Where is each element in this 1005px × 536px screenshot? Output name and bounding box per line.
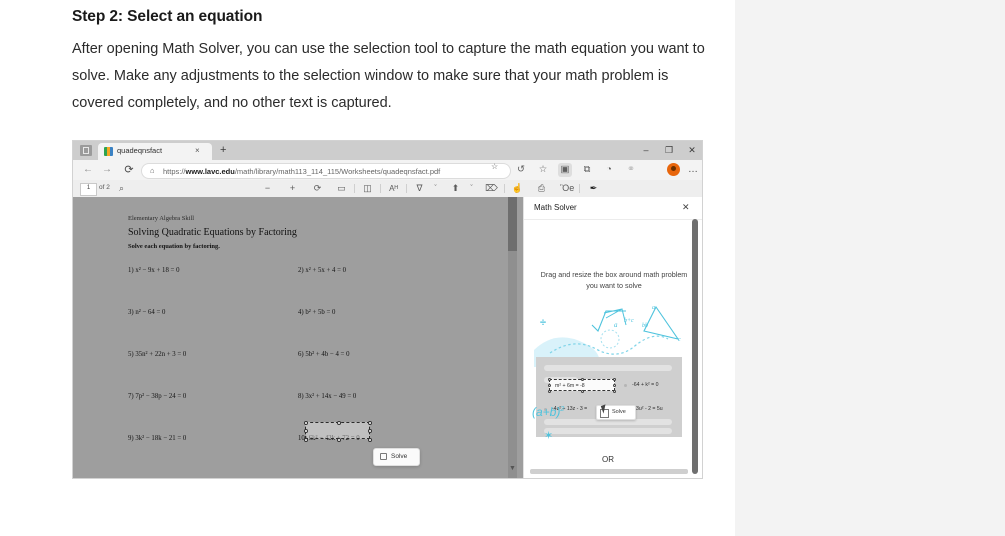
browser-essentials-icon[interactable]: ◔: [602, 164, 616, 176]
page-title: Step 2: Select an equation: [72, 8, 712, 26]
mini-text-bar: [544, 428, 672, 434]
browser-address-bar: ← → ⟳ ⌂ https://www.lavc.edu/math/librar…: [73, 160, 702, 180]
illustration-solve-label: Solve: [612, 409, 626, 415]
save-icon[interactable]: Ὃe: [560, 183, 573, 194]
svg-text:c: c: [678, 337, 681, 343]
svg-text:a: a: [652, 305, 655, 311]
forward-icon[interactable]: →: [101, 164, 113, 176]
avatar[interactable]: [667, 163, 680, 176]
window-maximize-button[interactable]: ❐: [662, 144, 676, 156]
screenshot-page: Step 2: Select an equation After opening…: [0, 0, 1005, 536]
equation-item: 8) 3x² + 14x − 49 = 0: [298, 393, 356, 400]
selection-handle[interactable]: [304, 421, 308, 425]
equation-item: 5) 35n² + 22n + 3 = 0: [128, 351, 186, 358]
equation-item: 4) b² + 5b = 0: [298, 309, 335, 316]
zoom-in-icon[interactable]: +: [286, 183, 299, 194]
toolbar-divider: [504, 184, 505, 193]
equation-item: 7) 7p² − 38p − 24 = 0: [128, 393, 186, 400]
svg-text:b+c: b+c: [624, 318, 634, 324]
svg-text:a: a: [614, 321, 618, 329]
math-solver-instruction: Drag and resize the box around math prob…: [538, 269, 690, 291]
document-instruction: Solve each equation by factoring.: [128, 243, 220, 250]
mini-handle: [548, 384, 551, 387]
window-minimize-button[interactable]: –: [639, 144, 653, 156]
binomial-expression: (a+b)2: [532, 405, 564, 419]
page-view-icon[interactable]: ◫: [361, 183, 374, 194]
address-url: https://www.lavc.edu/math/library/math11…: [163, 167, 440, 176]
browser-tab[interactable]: quadeqnsfact ×: [98, 143, 212, 160]
article-paragraph: After opening Math Solver, you can use t…: [72, 36, 712, 117]
math-solver-header: Math Solver ✕: [524, 197, 703, 219]
mini-handle: [613, 384, 616, 387]
mini-equation: m² + 6m = -8: [555, 383, 585, 389]
document-subtitle: Elementary Algebra Skill: [128, 215, 194, 222]
capture-icon: [380, 453, 387, 460]
highlight-icon[interactable]: ⬆: [449, 183, 462, 194]
new-tab-button[interactable]: +: [220, 145, 226, 156]
page-total-label: of 2: [99, 184, 110, 191]
address-input[interactable]: ⌂ https://www.lavc.edu/math/library/math…: [141, 163, 511, 179]
binomial-base: (a+b): [532, 405, 560, 419]
mini-equation: 3u² - 2 = 5u: [636, 406, 663, 412]
extensions-icon[interactable]: ⚭: [624, 164, 638, 176]
mini-handle: [548, 378, 551, 381]
divider: [524, 219, 703, 220]
equation-item-selected: 6) 5b² + 4b − 4 = 0: [298, 351, 349, 358]
equation-item: 2) x² + 5x + 4 = 0: [298, 267, 346, 274]
illustration-selection-box: m² + 6m = -8: [549, 379, 615, 391]
url-prefix: https://: [163, 167, 186, 176]
math-solver-scrollbar[interactable]: [692, 219, 698, 474]
mini-handle: [613, 390, 616, 393]
app-icon: [80, 145, 92, 156]
selection-handle[interactable]: [337, 438, 341, 442]
math-solver-panel: Math Solver ✕ Drag and resize the box ar…: [523, 197, 703, 478]
draw-dropdown-icon[interactable]: ˇ: [429, 183, 442, 194]
pin-icon[interactable]: ✒: [587, 183, 600, 194]
pdf-scroll-down-icon[interactable]: ▼: [509, 465, 516, 472]
selection-handle[interactable]: [368, 429, 372, 433]
mini-handle: [548, 390, 551, 393]
panel-bottom-bar: [530, 469, 688, 474]
math-solver-title: Math Solver: [534, 203, 577, 212]
url-domain: www.lavc.edu: [186, 167, 235, 176]
window-close-button[interactable]: ✕: [685, 144, 699, 156]
tab-title: quadeqnsfact: [117, 146, 179, 155]
selection-box[interactable]: [305, 422, 370, 439]
pdf-viewer[interactable]: Elementary Algebra Skill Solving Quadrat…: [73, 197, 523, 478]
hand-icon[interactable]: ☝: [511, 183, 524, 194]
pdf-toolbar: 1 of 2 ⌕ − + ⟳ ▭ ◫ Aᴴ ∇ ˇ ⬆ ˇ ⌦ ☝ ⎙ Ὃe ✒: [73, 180, 702, 198]
toolbar-divider: [354, 184, 355, 193]
page-number-value: 1: [81, 185, 96, 191]
toolbar-divider: [380, 184, 381, 193]
collections-icon[interactable]: ☆: [536, 164, 550, 176]
highlight-dropdown-icon[interactable]: ˇ: [465, 183, 478, 194]
toolbar-divider: [406, 184, 407, 193]
site-info-icon: ⌂: [150, 166, 155, 176]
equation-item: 1) x² − 9x + 18 = 0: [128, 267, 179, 274]
article: Step 2: Select an equation After opening…: [72, 8, 712, 117]
mini-text-bar: [544, 365, 672, 371]
mini-handle: [613, 378, 616, 381]
split-screen-icon[interactable]: ⧉: [580, 164, 594, 176]
illustration-mini-document: m² + 6m = -8 -64 + k² = 0 -4z² + 13z - 3…: [536, 357, 682, 437]
browser-title-bar: quadeqnsfact × + – ❐ ✕: [73, 141, 702, 160]
or-label: OR: [524, 455, 692, 464]
favorite-icon[interactable]: ☆: [491, 162, 498, 172]
mini-handle: [581, 378, 584, 381]
reload-icon[interactable]: ⟳: [123, 164, 135, 176]
mini-equation: -64 + k² = 0: [632, 382, 659, 388]
math-solver-illustration: a b+c a bb c ÷: [526, 305, 692, 450]
equation-item: 9) 3k² − 18k − 21 = 0: [128, 435, 186, 442]
rotate-icon[interactable]: ⟳: [311, 183, 324, 194]
search-icon[interactable]: ⌕: [115, 183, 128, 194]
erase-icon[interactable]: ⌦: [485, 183, 498, 194]
selection-handle[interactable]: [304, 438, 308, 442]
math-solver-icon[interactable]: ▣: [558, 163, 572, 177]
svg-text:bb: bb: [642, 323, 648, 329]
settings-more-icon[interactable]: …: [688, 164, 699, 175]
page-number-input[interactable]: 1: [80, 183, 97, 196]
pdf-page: Elementary Algebra Skill Solving Quadrat…: [73, 197, 517, 478]
divide-symbol-icon: ÷: [540, 317, 546, 329]
selection-handle[interactable]: [368, 421, 372, 425]
solve-button-label: Solve: [391, 453, 407, 460]
binomial-exponent: 2: [560, 406, 564, 413]
url-path: /math/library/math113_114_115/Worksheets…: [235, 167, 440, 176]
tab-favicon: [104, 147, 113, 156]
equation-item: 3) n² − 64 = 0: [128, 309, 165, 316]
selection-handle[interactable]: [337, 421, 341, 425]
fit-page-icon[interactable]: ▭: [335, 183, 348, 194]
mini-bullet: [624, 384, 627, 387]
browser-window-screenshot: quadeqnsfact × + – ❐ ✕ ← → ⟳ ⌂ https://w…: [72, 140, 703, 479]
history-icon[interactable]: ↺: [514, 164, 528, 176]
back-icon[interactable]: ←: [82, 164, 94, 176]
read-aloud-icon[interactable]: Aᴴ: [387, 183, 400, 194]
selection-handle[interactable]: [368, 438, 372, 442]
right-rail: [735, 0, 1005, 536]
mini-handle: [581, 390, 584, 393]
document-title: Solving Quadratic Equations by Factoring: [128, 227, 297, 238]
close-icon[interactable]: ✕: [682, 202, 690, 212]
selection-handle[interactable]: [304, 429, 308, 433]
pdf-scrollbar-thumb[interactable]: [508, 197, 517, 251]
solve-button[interactable]: Solve: [373, 448, 420, 466]
star-icon: ✶: [544, 429, 553, 442]
toolbar-divider: [579, 184, 580, 193]
zoom-out-icon[interactable]: −: [261, 183, 274, 194]
tab-close-icon[interactable]: ×: [195, 146, 200, 156]
print-icon[interactable]: ⎙: [535, 183, 548, 194]
draw-icon[interactable]: ∇: [413, 183, 426, 194]
